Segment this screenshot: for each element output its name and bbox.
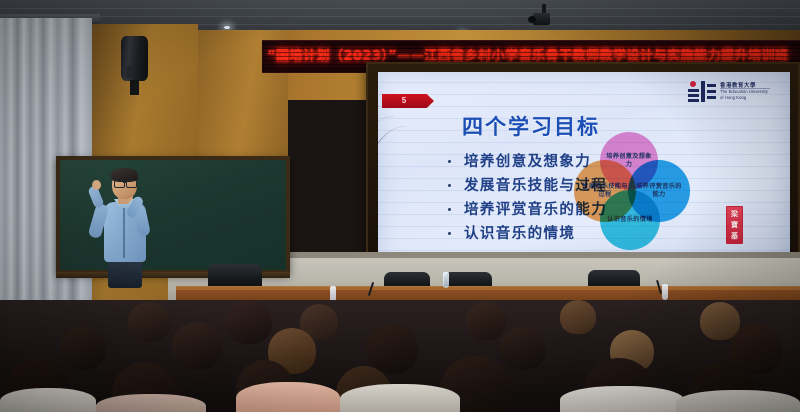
audience-head [500, 326, 546, 370]
eduhk-logo: 香港教育大學 The Education University of Hong … [686, 80, 770, 104]
audience-shoulders [676, 390, 800, 412]
slide-bullet-label: 培养创意及想象力 [464, 152, 591, 172]
slide-number-badge: 5 [382, 94, 434, 108]
red-seal-stamp: 梁 寶 基 [726, 206, 743, 244]
presenter-speaker [86, 166, 166, 286]
audience-shoulders [0, 388, 96, 412]
venn-circle-label: 认识音乐的情境 [601, 216, 658, 224]
camera-lens-icon [528, 16, 536, 23]
audience-head [172, 322, 222, 370]
bullet-dot-icon [448, 208, 451, 211]
audience-head [226, 300, 272, 344]
venn-circle-context: 认识音乐的情境 [600, 190, 660, 250]
water-bottle[interactable] [662, 284, 668, 300]
audience-head [60, 326, 106, 370]
speaker-grille-icon [126, 66, 134, 78]
bullet-dot-icon [448, 184, 451, 187]
glasses-bridge-icon [123, 182, 126, 183]
seal-char: 寶 [731, 221, 738, 229]
water-bottle[interactable] [443, 272, 449, 288]
audience-shoulders [560, 386, 684, 412]
bullet-dot-icon [448, 232, 451, 235]
ceiling-downlight [224, 26, 230, 29]
audience-seating [0, 300, 800, 412]
presenter-shirt-placket [123, 206, 125, 258]
presenter-trousers [108, 258, 142, 288]
seal-char: 梁 [731, 210, 738, 218]
audience-head [128, 302, 170, 342]
presenter-hand-left [92, 180, 101, 190]
audience-head [560, 300, 596, 334]
slide-bullet-label: 认识音乐的情境 [464, 224, 575, 244]
projection-screen[interactable]: 5 香港教育大學 The Education University of Hon… [378, 72, 790, 264]
seal-char: 基 [731, 232, 738, 240]
audience-head [366, 324, 418, 374]
audience-shoulders [236, 382, 340, 412]
decor-curve [378, 126, 455, 264]
bullet-dot-icon [448, 160, 451, 163]
audience-head [466, 302, 506, 340]
logo-english-line1: The Education University [720, 89, 768, 94]
slide-title: 四个学习目标 [462, 114, 682, 140]
audience-shoulders [340, 384, 460, 412]
speaker-mount [130, 80, 139, 95]
glasses-icon [126, 180, 137, 188]
lecture-hall-photo: “国培计划（2023）”——江西省乡村小学音乐骨干教师教学设计与实施能力提升培训… [0, 0, 800, 412]
audience-shoulders [96, 394, 206, 412]
slide-number-label: 5 [382, 94, 426, 108]
logo-red-dot-icon [690, 81, 696, 87]
logo-english-line2: of Hong Kong [720, 95, 746, 100]
